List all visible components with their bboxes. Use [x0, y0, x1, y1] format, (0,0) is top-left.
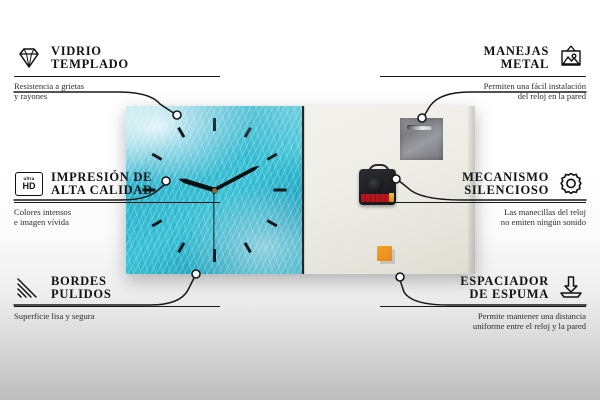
feature-desc-line1: Permiten una fácil instalación — [484, 81, 586, 91]
feature-title-line2: SILENCIOSO — [462, 184, 549, 198]
hanging-picture-icon — [556, 44, 586, 72]
clock-tick — [266, 219, 277, 227]
feature-header: MECANISMO SILENCIOSO — [380, 170, 586, 198]
feature-vidrio-templado: VIDRIO TEMPLADO Resistencia a grietas y … — [14, 44, 220, 102]
feature-desc-line1: Colores intensos — [14, 207, 71, 217]
clock-minute-hand — [213, 164, 261, 192]
ultra-hd-icon: ultra HD — [14, 170, 44, 198]
clock-tick — [243, 242, 251, 253]
ultra-hd-main-label: HD — [23, 182, 36, 191]
clock-tick — [273, 189, 286, 192]
feature-title-line1: VIDRIO — [51, 44, 102, 58]
feature-divider — [380, 202, 586, 203]
arrow-press-layer-icon — [556, 274, 586, 302]
feature-desc-line1: Permite mantener una distancia — [478, 311, 586, 321]
feature-title-line1: MECANISMO — [462, 170, 549, 184]
diamond-icon — [14, 44, 44, 72]
feature-title-line1: MANEJAS — [484, 44, 549, 58]
feature-description: Permite mantener una distancia uniforme … — [380, 311, 586, 332]
feature-title-line1: IMPRESIÓN DE — [51, 170, 152, 184]
feature-divider — [380, 76, 586, 77]
feature-desc-line1: Las manecillas del reloj — [504, 207, 586, 217]
feature-desc-line1: Superficie lisa y segura — [14, 311, 94, 321]
feature-header: ESPACIADOR DE ESPUMA — [380, 274, 586, 302]
feature-header: VIDRIO TEMPLADO — [14, 44, 220, 72]
feature-title: IMPRESIÓN DE ALTA CALIDAD — [51, 171, 153, 198]
feature-header: MANEJAS METAL — [380, 44, 586, 72]
feature-description: Las manecillas del reloj no emiten ningú… — [380, 207, 586, 228]
feature-description: Colores intensos e imagen vívida — [14, 207, 220, 228]
clock-tick — [177, 127, 185, 138]
metal-hanger-plate — [400, 118, 443, 160]
feature-desc-line1: Resistencia a grietas — [14, 81, 84, 91]
feature-desc-line2: y rayones — [14, 91, 220, 101]
feature-title: BORDES PULIDOS — [51, 275, 111, 302]
feature-divider — [380, 306, 586, 307]
feature-title: ESPACIADOR DE ESPUMA — [460, 275, 549, 302]
feature-header: BORDES PULIDOS — [14, 274, 220, 302]
feature-divider — [14, 202, 220, 203]
feature-title: MECANISMO SILENCIOSO — [462, 171, 549, 198]
feature-desc-line2: del reloj en la pared — [380, 91, 586, 101]
clock-tick — [213, 118, 216, 131]
polished-edge-icon — [14, 274, 44, 302]
clock-tick — [266, 153, 277, 161]
feature-title-line2: ALTA CALIDAD — [51, 184, 153, 198]
feature-desc-line2: e imagen vívida — [14, 217, 220, 227]
feature-header: ultra HD IMPRESIÓN DE ALTA CALIDAD — [14, 170, 220, 198]
feature-description: Permiten una fácil instalación del reloj… — [380, 81, 586, 102]
infographic-canvas: VIDRIO TEMPLADO Resistencia a grietas y … — [0, 0, 600, 400]
feature-desc-line2: no emiten ningún sonido — [380, 217, 586, 227]
feature-description: Superficie lisa y segura — [14, 311, 220, 321]
feature-manejas-metal: MANEJAS METAL Permiten una fácil instala… — [380, 44, 586, 102]
feature-impresion-alta-calidad: ultra HD IMPRESIÓN DE ALTA CALIDAD Color… — [14, 170, 220, 228]
feature-desc-line2: uniforme entre el reloj y la pared — [380, 321, 586, 331]
feature-divider — [14, 76, 220, 77]
feature-title-line1: BORDES — [51, 274, 107, 288]
feature-divider — [14, 306, 220, 307]
feature-title-line2: DE ESPUMA — [460, 288, 549, 302]
hanger-keyhole-slot — [407, 125, 432, 130]
feature-mecanismo-silencioso: MECANISMO SILENCIOSO Las manecillas del … — [380, 170, 586, 228]
feature-bordes-pulidos: BORDES PULIDOS Superficie lisa y segura — [14, 274, 220, 321]
feature-title-line2: METAL — [484, 58, 549, 72]
clock-tick — [151, 153, 162, 161]
feature-title-line1: ESPACIADOR — [460, 274, 549, 288]
feature-espaciador-espuma: ESPACIADOR DE ESPUMA Permite mantener un… — [380, 274, 586, 332]
clock-tick — [243, 127, 251, 138]
gear-icon — [556, 170, 586, 198]
feature-title: MANEJAS METAL — [484, 45, 549, 72]
feature-description: Resistencia a grietas y rayones — [14, 81, 220, 102]
feature-title-line2: TEMPLADO — [51, 58, 129, 72]
feature-title-line2: PULIDOS — [51, 288, 111, 302]
foam-spacer-pad — [377, 246, 392, 261]
clock-tick — [177, 242, 185, 253]
ultra-hd-box: ultra HD — [15, 172, 43, 196]
feature-title: VIDRIO TEMPLADO — [51, 45, 129, 72]
